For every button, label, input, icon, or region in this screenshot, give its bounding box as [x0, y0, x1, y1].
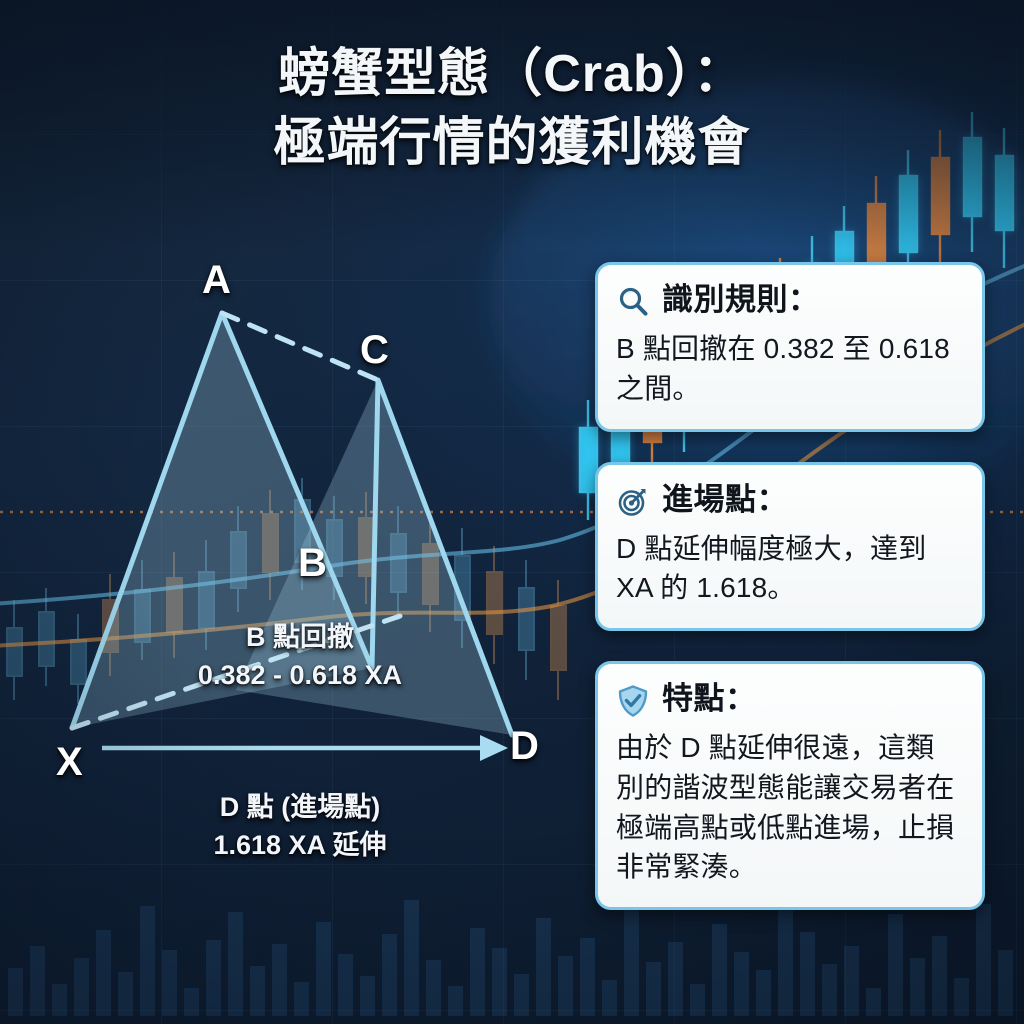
info-card-list: 識別規則： B 點回撤在 0.382 至 0.618 之間。 進場點： D 點延… [595, 262, 985, 940]
annotation-d-entry: D 點 (進場點) 1.618 XA 延伸 [140, 788, 460, 865]
card-body: B 點回撤在 0.382 至 0.618 之間。 [616, 329, 962, 409]
annotation-b-line-2: 0.382 - 0.618 XA [150, 656, 450, 694]
vertex-label-b: B [298, 541, 327, 586]
annotation-b-line-1: B 點回撤 [150, 618, 450, 656]
annotation-b-retracement: B 點回撤 0.382 - 0.618 XA [150, 618, 450, 695]
annotation-d-line-1: D 點 (進場點) [140, 788, 460, 826]
card-header: 識別規則： [616, 283, 962, 319]
info-card-rules[interactable]: 識別規則： B 點回撤在 0.382 至 0.618 之間。 [595, 262, 985, 432]
vertex-label-d: D [510, 724, 539, 769]
card-title: 識別規則： [662, 283, 820, 317]
infographic-canvas: 螃蟹型態（Crab）： 極端行情的獲利機會 A C B X D B 點回撤 0.… [0, 0, 1024, 1024]
card-header: 進場點： [616, 483, 962, 519]
annotation-d-line-2: 1.618 XA 延伸 [140, 826, 460, 864]
magnifier-icon [616, 285, 650, 319]
card-body: 由於 D 點延伸很遠，這類別的諧波型態能讓交易者在極端高點或低點進場，止損非常緊… [616, 728, 962, 887]
shield-check-icon [616, 684, 650, 718]
vertex-label-a: A [202, 258, 231, 303]
target-icon [616, 485, 650, 519]
vertex-label-c: C [360, 328, 389, 373]
vertex-label-x: X [56, 740, 83, 785]
info-card-features[interactable]: 特點： 由於 D 點延伸很遠，這類別的諧波型態能讓交易者在極端高點或低點進場，止… [595, 661, 985, 910]
info-card-entry[interactable]: 進場點： D 點延伸幅度極大，達到 XA 的 1.618。 [595, 462, 985, 632]
card-header: 特點： [616, 682, 962, 718]
card-body: D 點延伸幅度極大，達到 XA 的 1.618。 [616, 529, 962, 609]
card-title: 進場點： [662, 483, 788, 517]
card-title: 特點： [662, 682, 757, 716]
